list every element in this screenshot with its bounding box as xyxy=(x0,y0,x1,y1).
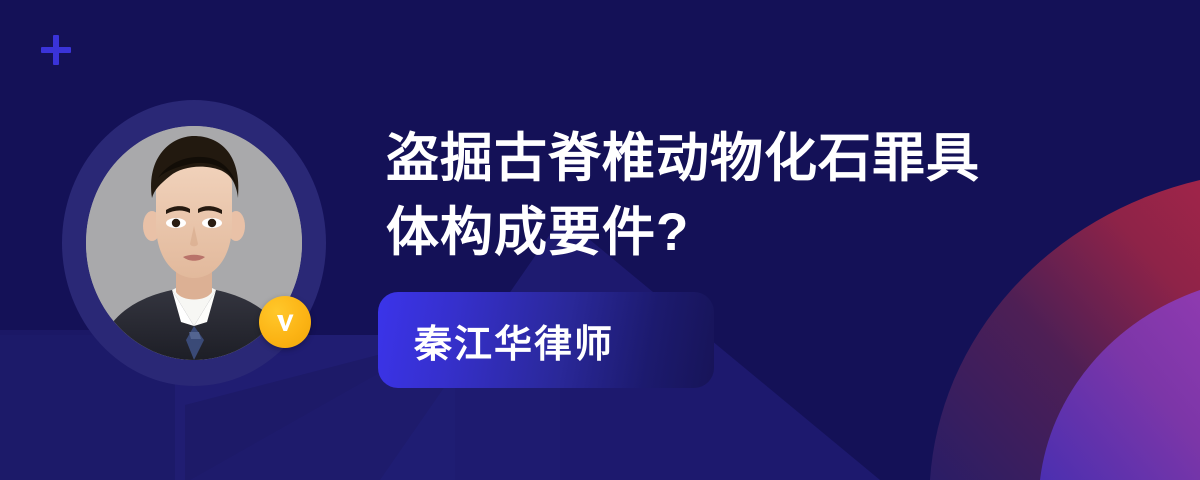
avatar xyxy=(62,100,326,386)
plus-icon xyxy=(41,35,71,65)
author-name-label: 秦江华律师 xyxy=(378,313,614,368)
verified-check-icon xyxy=(259,296,311,348)
author-name-badge[interactable]: 秦江华律师 xyxy=(378,292,714,388)
lawyer-qa-banner: 盗掘古脊椎动物化石罪具 体构成要件? 秦江华律师 xyxy=(0,0,1200,480)
page-title: 盗掘古脊椎动物化石罪具 体构成要件? xyxy=(386,122,1126,270)
